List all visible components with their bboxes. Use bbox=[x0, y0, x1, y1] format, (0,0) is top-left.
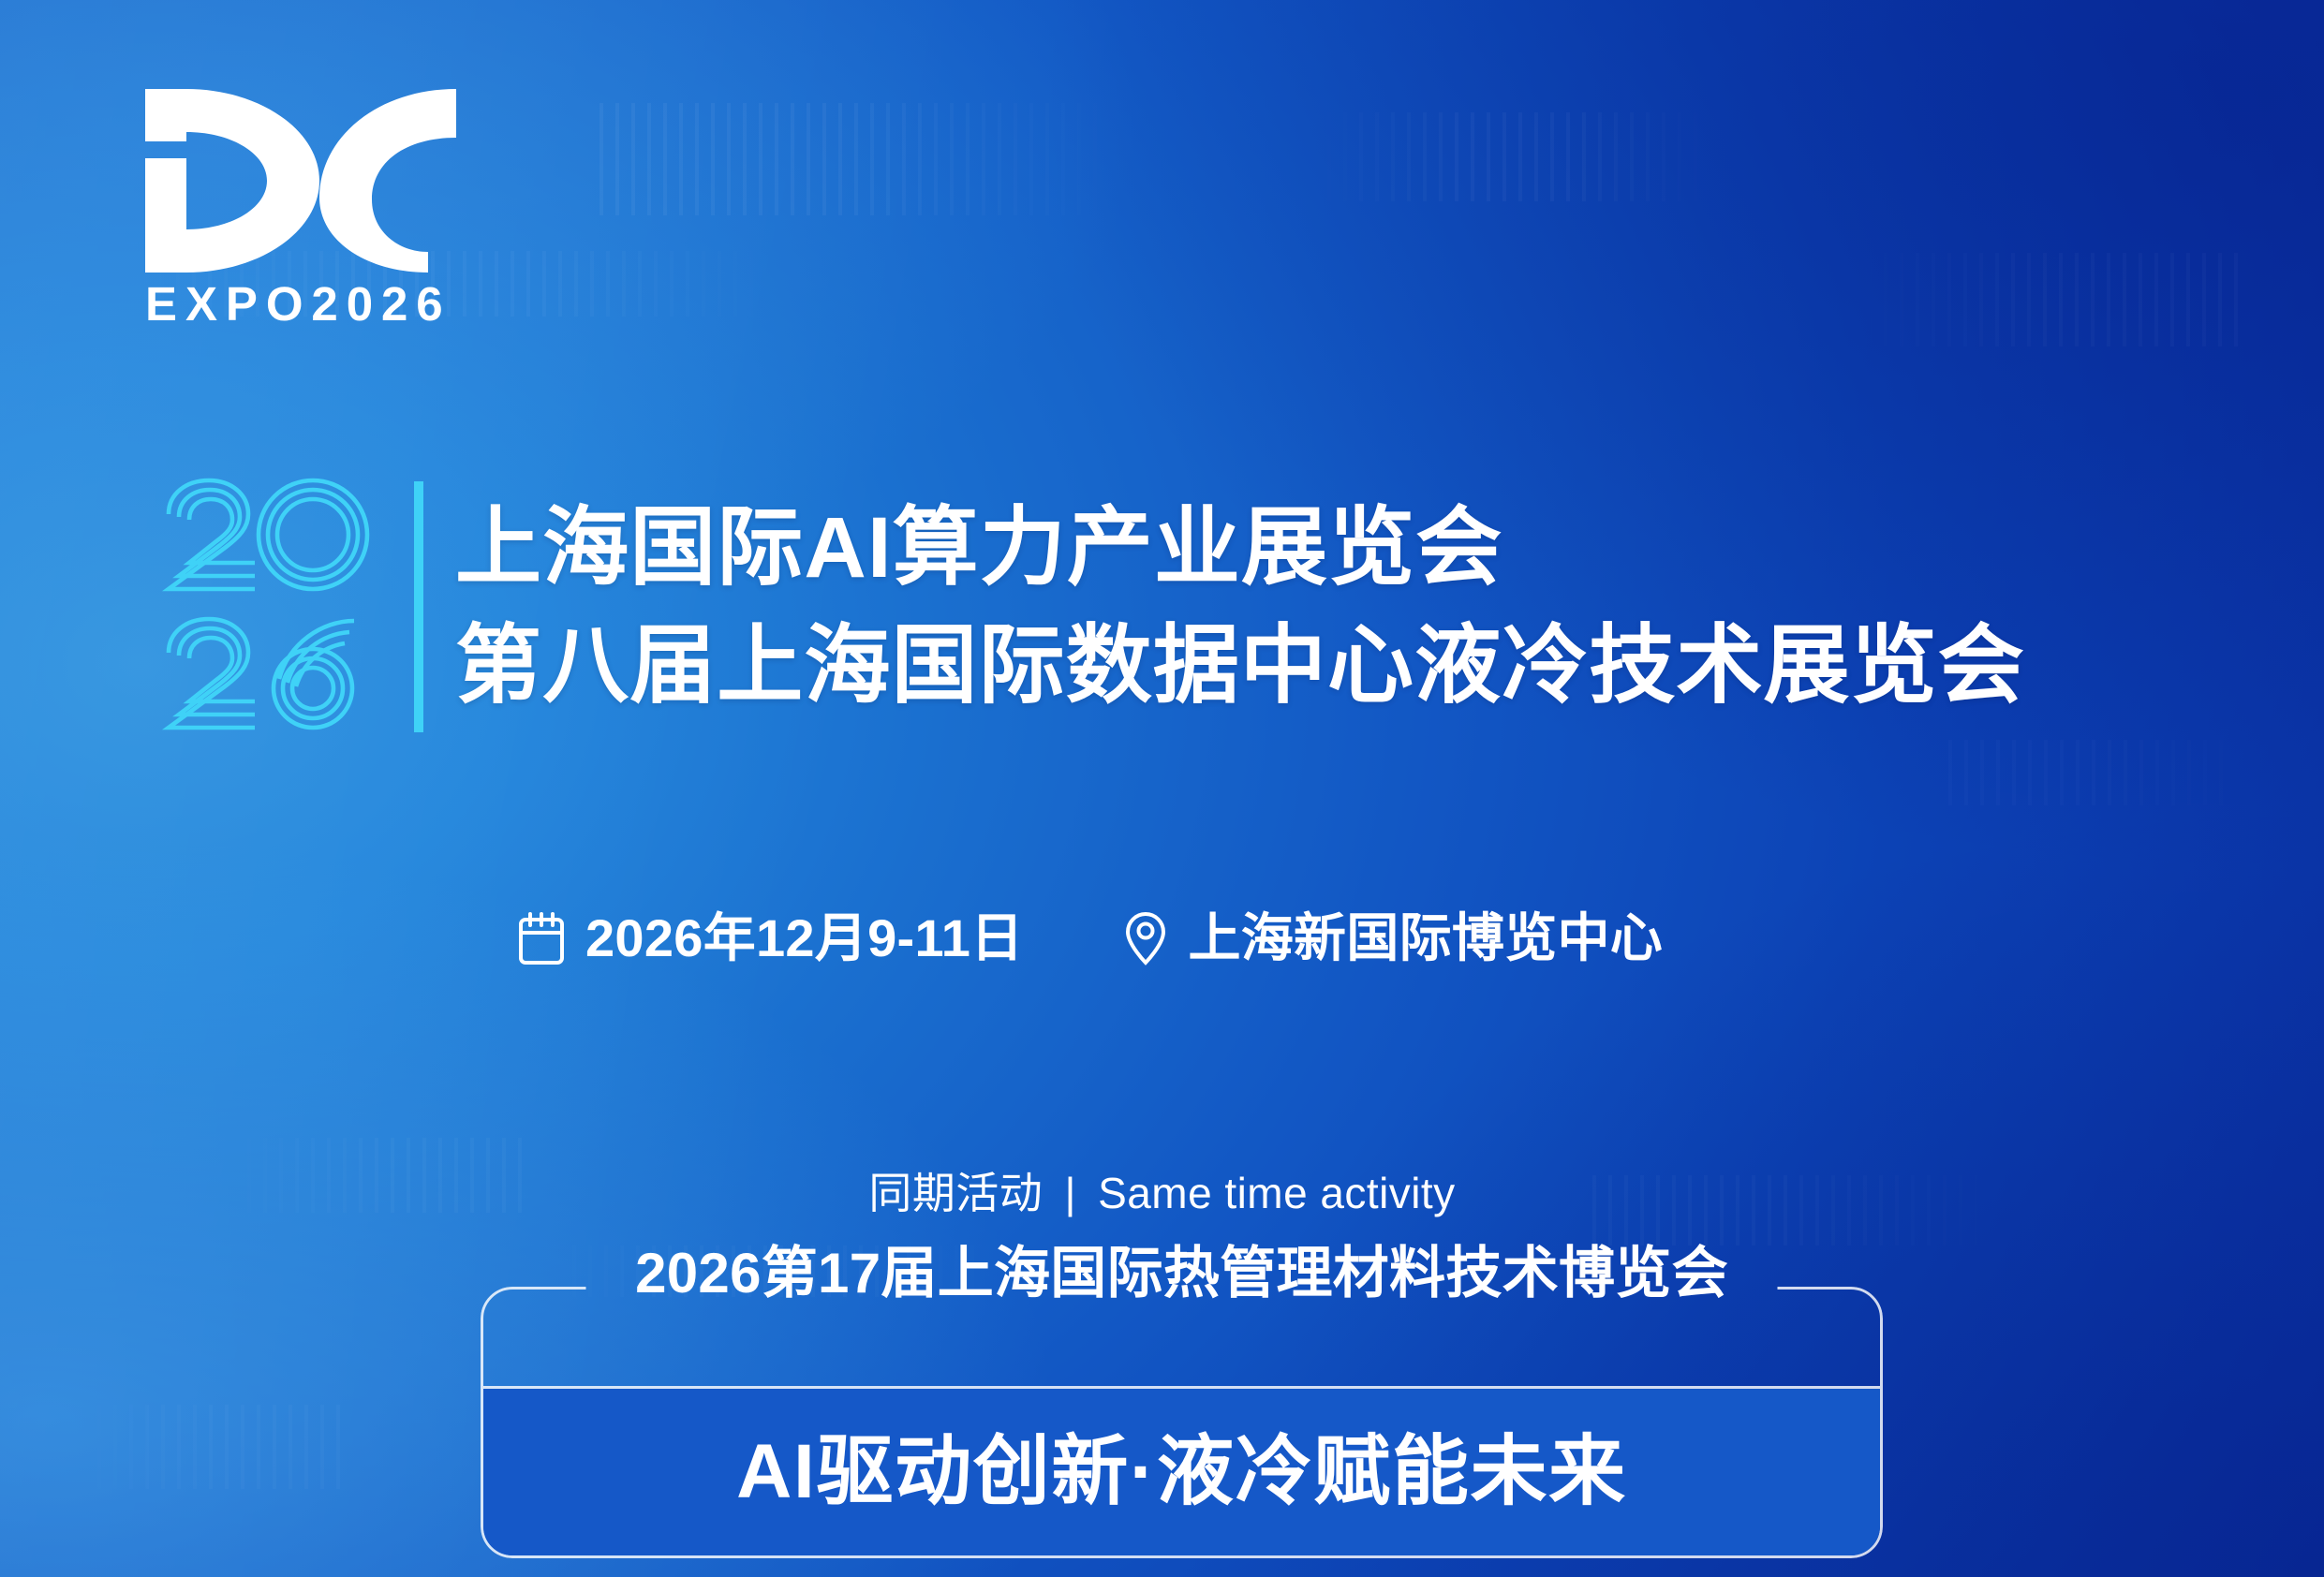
calendar-icon bbox=[518, 911, 565, 965]
event-title-primary: 上海国际AI算力产业展览会 bbox=[455, 495, 2025, 600]
title-lines: 上海国际AI算力产业展览会 第八届上海国际数据中心液冷技术展览会 bbox=[455, 495, 2025, 718]
logo-wordmark: EXPO2026 bbox=[145, 280, 456, 328]
outlined-2026-numerals-icon bbox=[157, 473, 390, 741]
event-slogan: AI驱动创新·液冷赋能未来 bbox=[736, 1434, 1627, 1511]
same-time-activity-en: Same time activity bbox=[1098, 1169, 1456, 1217]
title-block: 上海国际AI算力产业展览会 第八届上海国际数据中心液冷技术展览会 bbox=[157, 473, 2025, 741]
co-located-event-heading: 2026第17届上海国际热管理材料技术博览会 bbox=[481, 1245, 1883, 1302]
same-time-activity-separator: | bbox=[1055, 1169, 1085, 1217]
same-time-activity-label: 同期活动 | Same time activity bbox=[0, 1159, 2324, 1221]
co-located-event-panel: 2026第17届上海国际热管理材料技术博览会 AI驱动创新·液冷赋能未来 bbox=[481, 1287, 1883, 1558]
event-date: 2026年12月9-11日 bbox=[518, 911, 1024, 965]
event-poster: EXPO2026 bbox=[0, 0, 2324, 1577]
event-title-secondary: 第八届上海国际数据中心液冷技术展览会 bbox=[455, 613, 2025, 718]
event-venue: 上海新国际博览中心 bbox=[1123, 910, 1664, 966]
idc-monogram-icon bbox=[145, 89, 456, 273]
event-date-text: 2026年12月9-11日 bbox=[585, 912, 1024, 965]
title-accent-divider bbox=[414, 481, 423, 732]
brand-logo: EXPO2026 bbox=[145, 89, 456, 328]
same-time-activity-cn: 同期活动 bbox=[868, 1169, 1043, 1217]
slogan-banner: AI驱动创新·液冷赋能未来 bbox=[483, 1389, 1880, 1555]
location-pin-icon bbox=[1123, 910, 1168, 966]
event-meta: 2026年12月9-11日 上海新国际博览中心 bbox=[518, 910, 1663, 966]
event-venue-text: 上海新国际博览中心 bbox=[1189, 912, 1664, 965]
